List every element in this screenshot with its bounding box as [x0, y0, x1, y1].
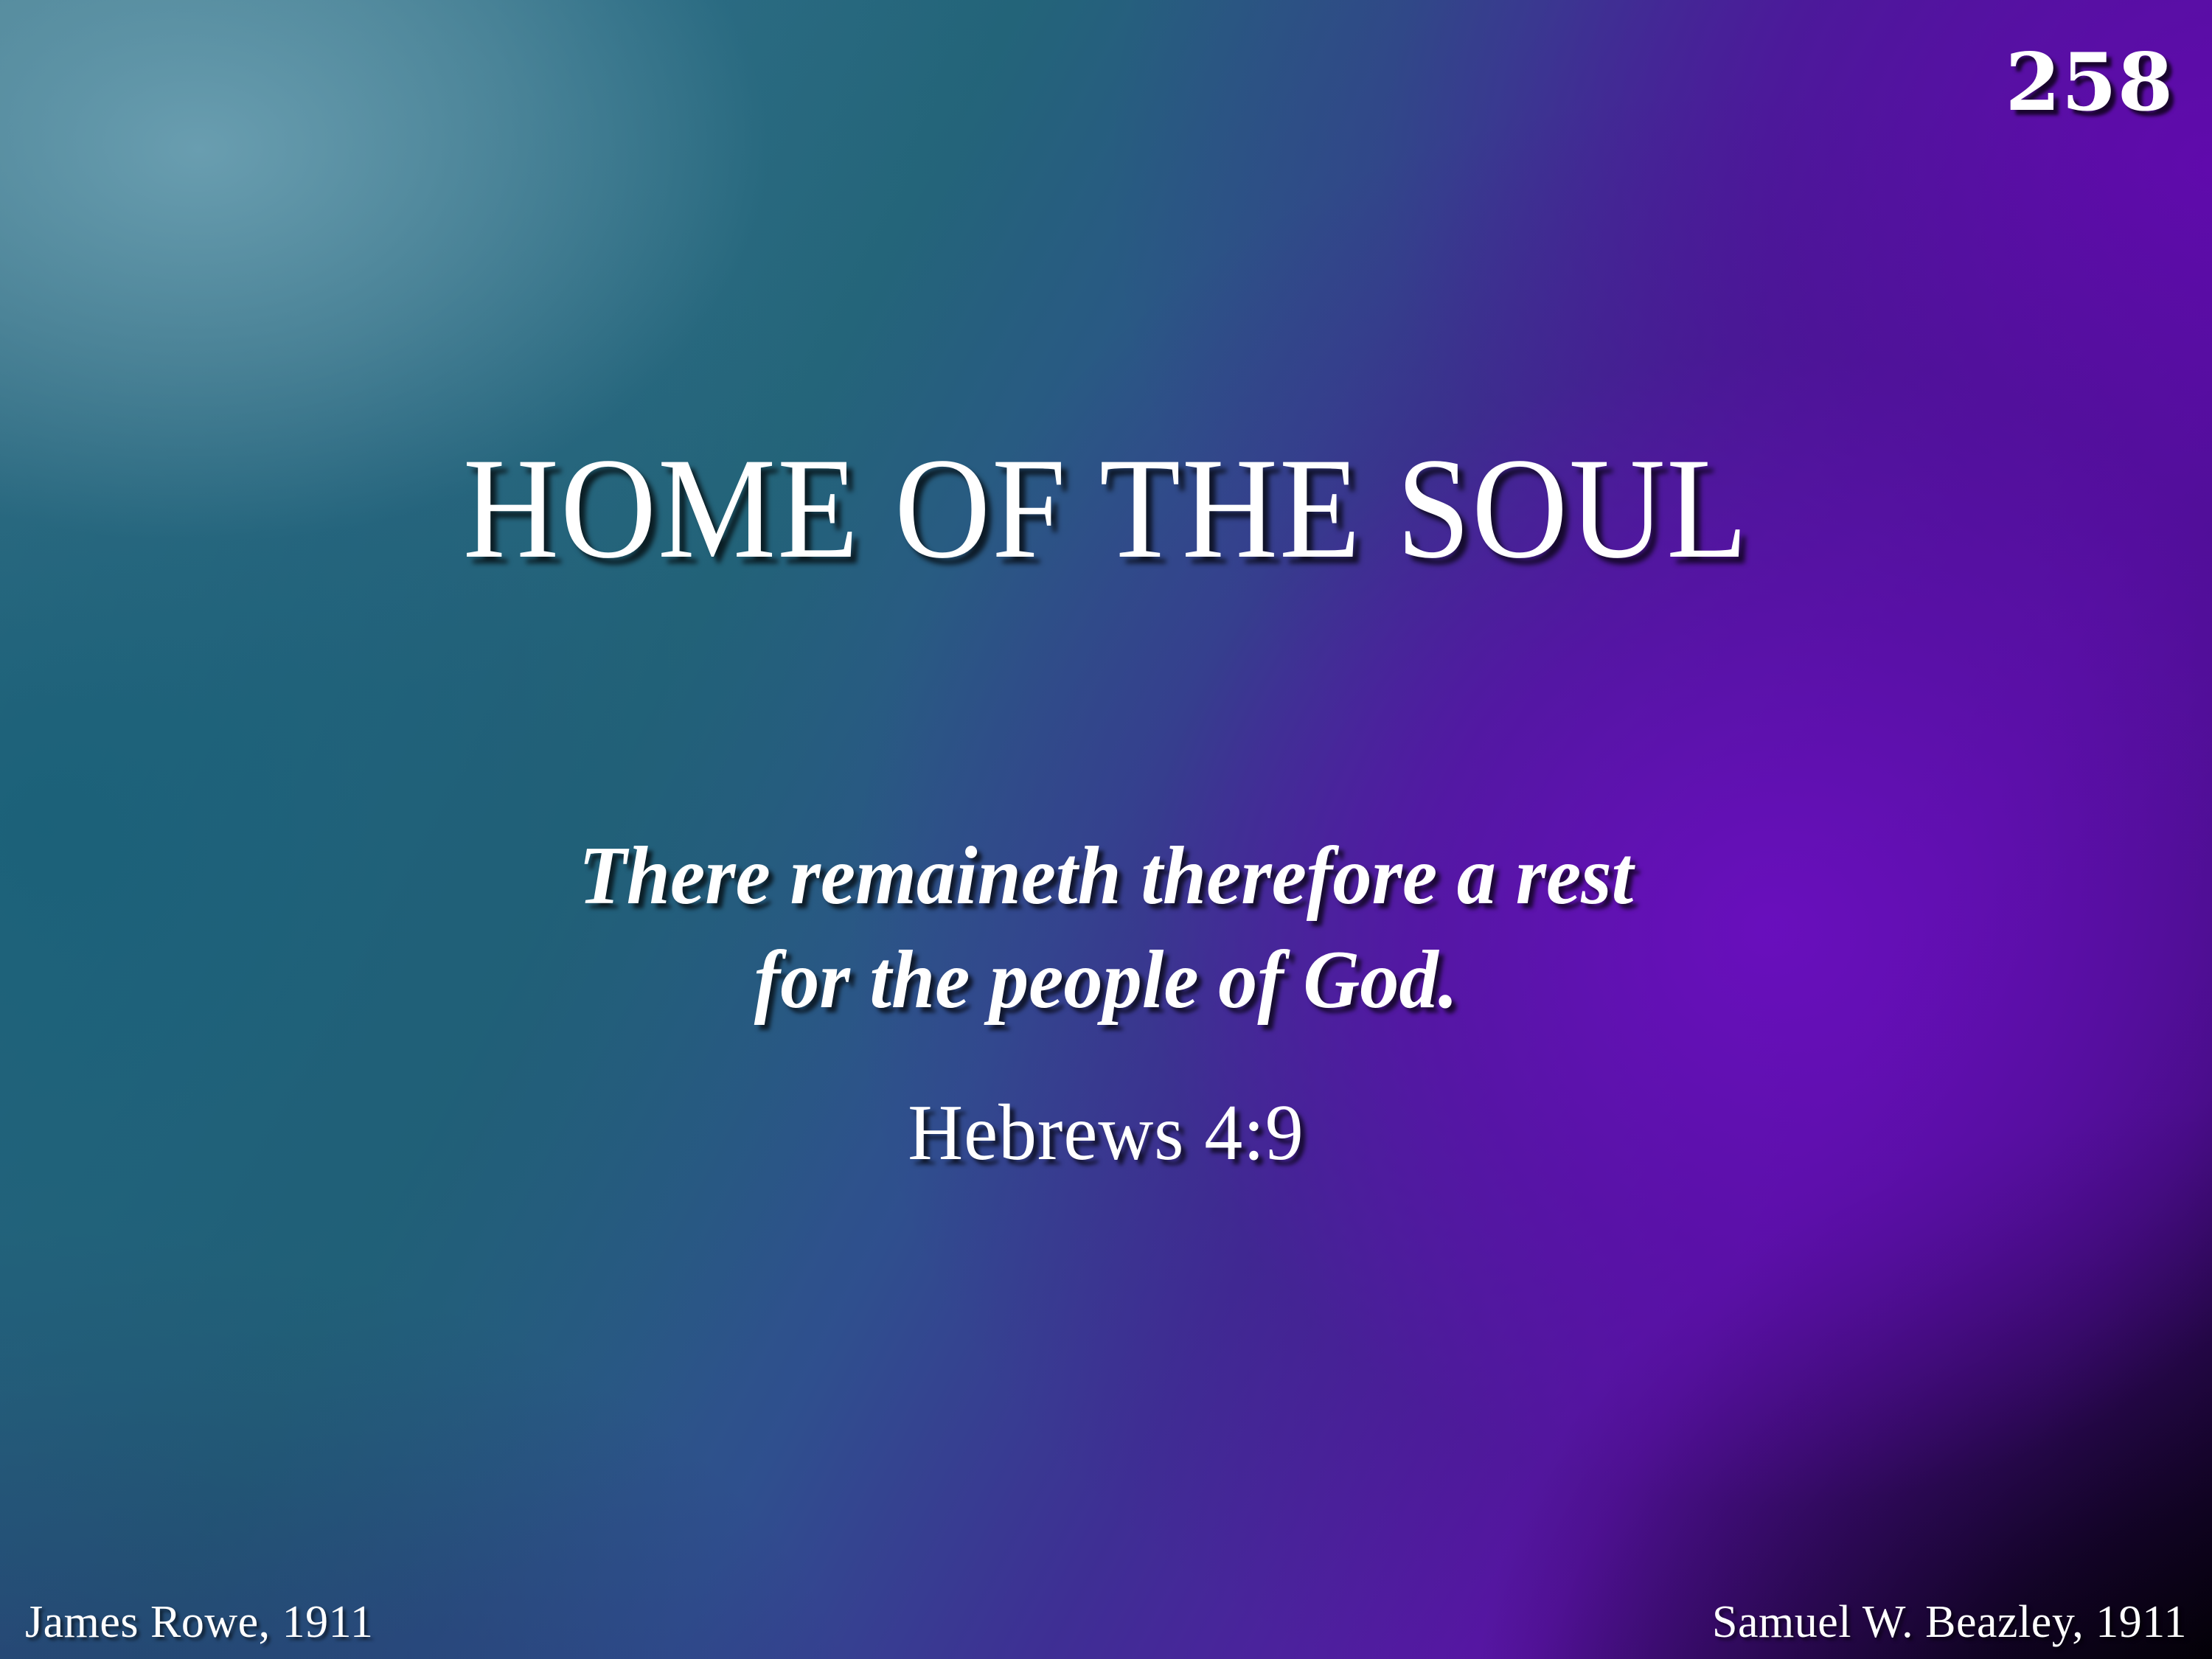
scripture-line-1: There remaineth therefore a rest — [55, 824, 2157, 928]
scripture-line-2: for the people of God. — [55, 928, 2157, 1032]
hymn-number: 258 — [2006, 43, 2174, 122]
scripture-reference: Hebrews 4:9 — [44, 1090, 2168, 1178]
credit-author: James Rowe, 1911 — [25, 1596, 373, 1649]
page-title: HOME OF THE SOUL — [88, 435, 2124, 582]
hymn-slide: 258 HOME OF THE SOUL There remaineth the… — [0, 0, 2212, 1659]
credit-composer: Samuel W. Beazley, 1911 — [1712, 1596, 2187, 1649]
scripture-block: There remaineth therefore a rest for the… — [0, 824, 2212, 1032]
